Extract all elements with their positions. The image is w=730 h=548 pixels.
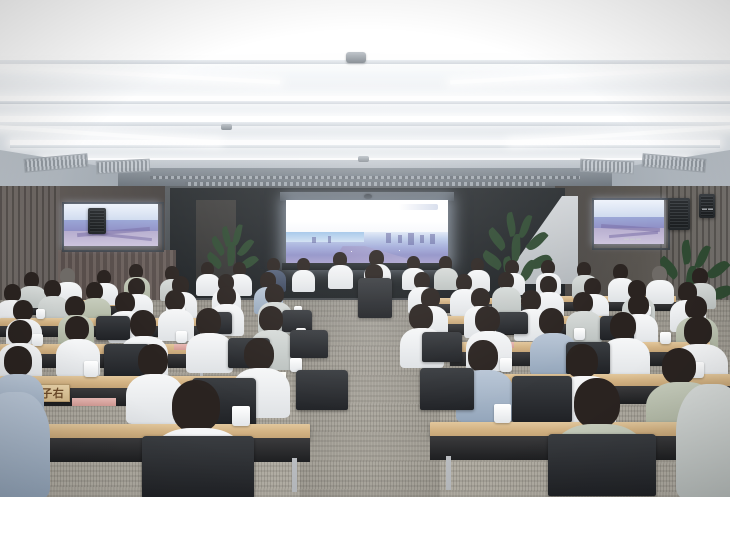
task-chair	[496, 312, 528, 334]
paper-cup	[32, 334, 43, 346]
task-chair	[290, 330, 328, 358]
attendee-torso	[186, 333, 233, 373]
task-chair	[420, 368, 474, 410]
conference-room-photograph: ▬▬ ▬▬▬	[0, 0, 730, 497]
attendee-head	[259, 306, 283, 332]
ceiling-rail	[0, 122, 730, 126]
plant-leaf	[518, 214, 532, 239]
main-led-wall	[286, 200, 448, 264]
paper-cup	[84, 361, 98, 377]
paper-cup	[660, 332, 671, 344]
screen-building	[386, 233, 391, 243]
soffit-light-row	[150, 176, 580, 179]
attendee-head	[468, 340, 498, 372]
attendee-torso	[0, 392, 50, 497]
attendee-head	[65, 316, 89, 341]
screen-watermark	[399, 204, 438, 210]
attendee-head	[65, 296, 85, 317]
wall-speaker	[88, 208, 106, 234]
screen-water-region	[286, 232, 364, 242]
screen-building	[398, 235, 402, 243]
attendee-head	[628, 294, 649, 316]
ceiling-rail	[10, 145, 720, 148]
paper-cup	[176, 331, 187, 343]
document-red	[72, 398, 116, 406]
attendee-torso	[292, 270, 315, 292]
paper-cup	[36, 309, 45, 319]
attendee-head	[130, 310, 156, 338]
attendee-head	[539, 308, 564, 335]
attendee-torso	[676, 384, 730, 497]
screen-building	[312, 237, 316, 243]
plant-leaf	[694, 244, 711, 270]
attendee-head	[4, 346, 32, 376]
attendee-head	[684, 316, 712, 346]
screen-building	[328, 236, 331, 243]
plant-leaf	[680, 240, 693, 265]
letterbox-bottom	[0, 497, 730, 548]
task-chair	[296, 370, 348, 410]
attendee-head	[409, 304, 433, 330]
desk-leg	[446, 456, 451, 490]
ceiling-light-glow	[0, 0, 730, 60]
ceiling-dome-fixture	[221, 124, 232, 130]
attendee-head	[573, 292, 593, 313]
speaker-grille	[90, 210, 104, 232]
task-chair	[422, 332, 462, 362]
screen-building	[420, 235, 424, 243]
attendee-head	[8, 320, 32, 345]
attendee-head	[115, 292, 135, 313]
task-chair	[142, 436, 254, 497]
wall-signage: ▬▬	[702, 206, 714, 212]
task-chair	[512, 376, 572, 422]
attendee-head	[13, 300, 33, 321]
speaker-grille	[670, 200, 688, 228]
attendee-head	[471, 288, 490, 308]
desk-leg	[292, 458, 297, 492]
side-screen-sky	[594, 200, 664, 218]
attendee-head	[244, 338, 274, 370]
attendee-head	[574, 378, 620, 428]
screen-detail-speck	[351, 251, 352, 252]
screenshot-frame: ▬▬ ▬▬▬	[0, 0, 730, 548]
task-chair	[548, 434, 656, 496]
attendee-torso	[434, 268, 458, 290]
attendee-torso	[328, 265, 353, 289]
ceiling-dome-fixture	[358, 156, 369, 162]
attendee-head	[662, 348, 696, 384]
screen-building	[408, 233, 414, 245]
attendee-head	[610, 312, 636, 340]
ceiling-rail	[0, 101, 730, 104]
attendee-head	[196, 308, 221, 335]
paper-cup	[494, 404, 511, 423]
attendee-head	[165, 290, 185, 311]
attendee-head	[566, 344, 598, 378]
screen-detail-speck	[399, 250, 400, 251]
task-chair	[358, 278, 392, 318]
ceiling-dome-fixture	[346, 52, 366, 63]
wall-signage: ▬▬▬	[624, 236, 642, 242]
screen-building	[430, 234, 435, 244]
attendee-head	[217, 286, 236, 306]
attendee-head	[138, 344, 168, 376]
attendee-head	[172, 380, 220, 432]
ceiling-air-vent	[580, 159, 635, 175]
attendee-head	[521, 290, 541, 311]
task-chair	[96, 316, 130, 340]
plant-leaf	[511, 234, 521, 262]
paper-cup	[574, 328, 585, 340]
attendee-head	[475, 306, 500, 333]
left-side-screen	[64, 204, 158, 246]
ceiling-camera-icon	[364, 194, 372, 199]
wall-speaker	[668, 198, 690, 230]
attendee-head	[265, 284, 284, 304]
paper-cup	[232, 406, 250, 426]
paper-cup	[500, 358, 512, 372]
